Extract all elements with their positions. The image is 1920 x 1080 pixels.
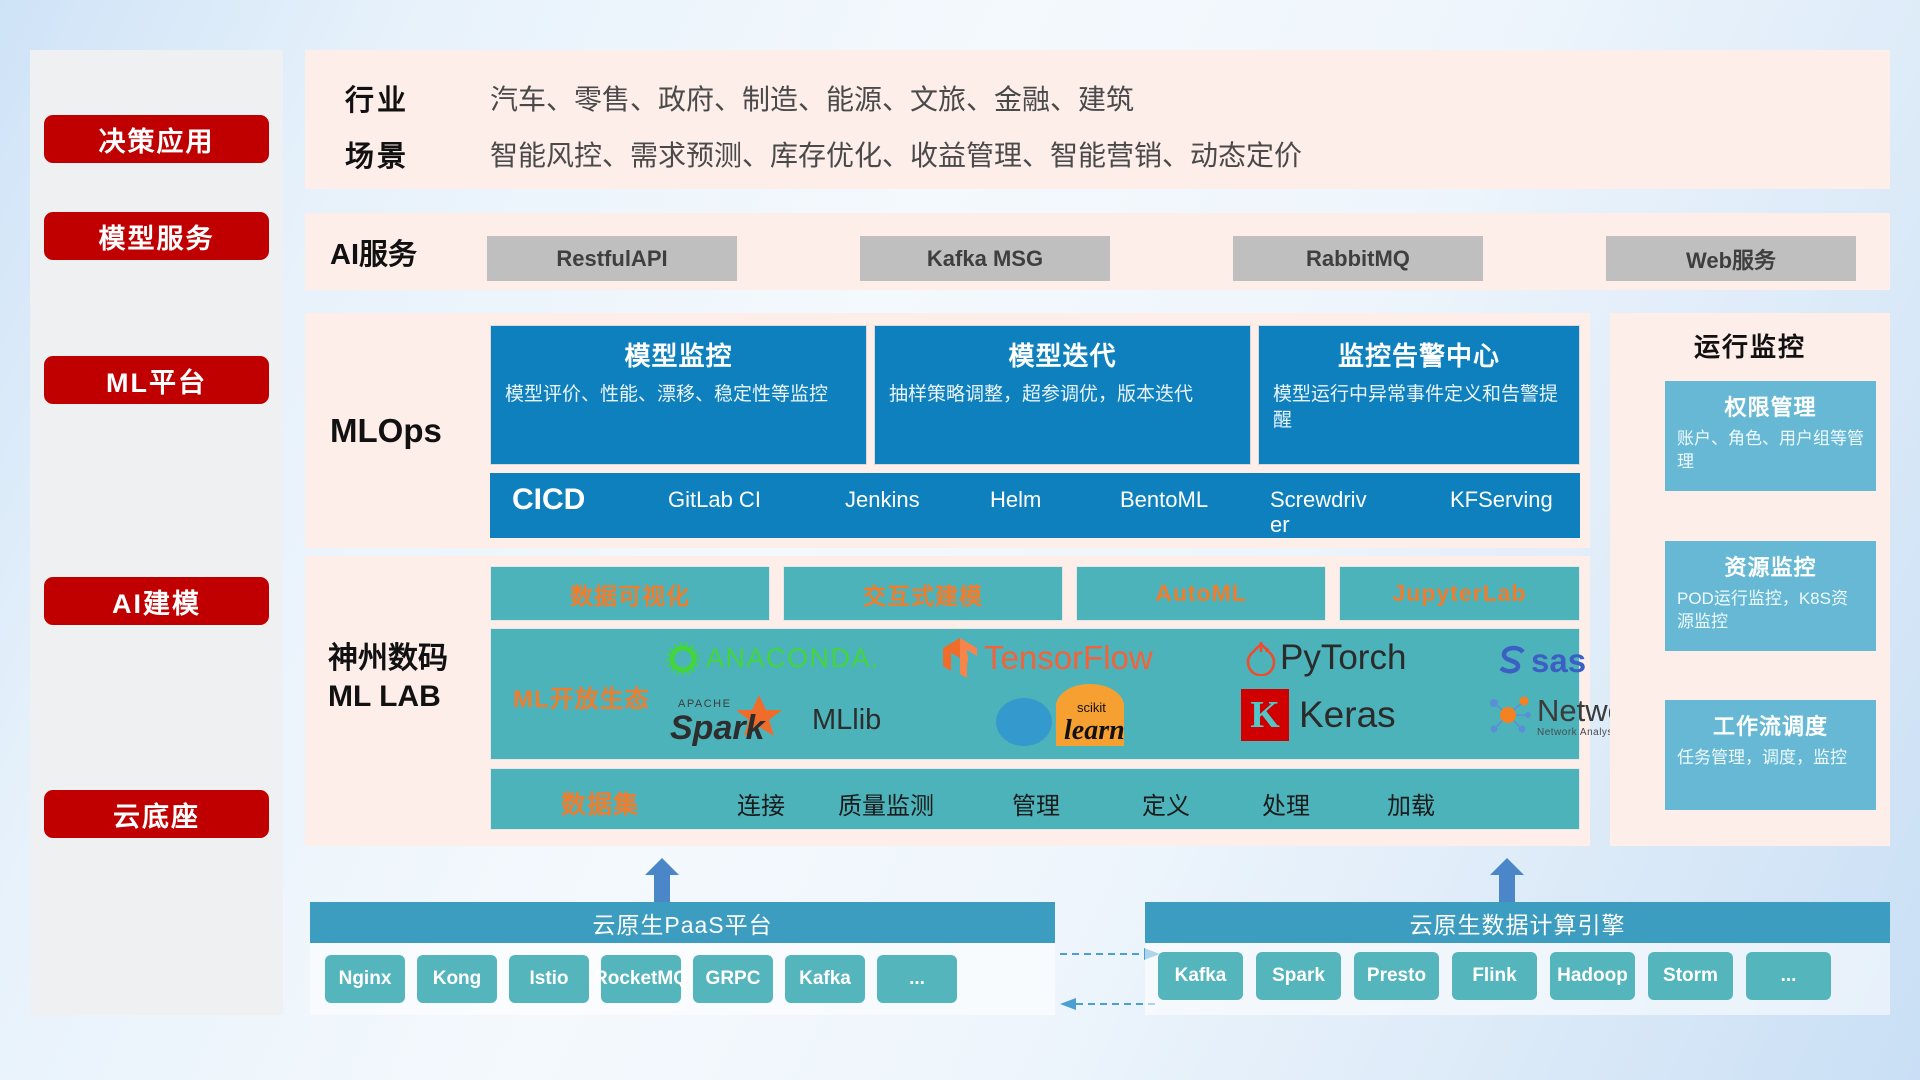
lab-tool-automl[interactable]: AutoML [1076, 566, 1326, 621]
left-rail: 决策应用 模型服务 ML平台 AI建模 云底座 [30, 50, 283, 1015]
card-title: 资源监控 [1677, 550, 1864, 582]
service-chip-web-service[interactable]: Web服务 [1606, 236, 1856, 281]
rail-item-cloud-base[interactable]: 云底座 [44, 790, 269, 838]
engine-chip-storm[interactable]: Storm [1648, 952, 1733, 1000]
engine-chip-more[interactable]: ... [1746, 952, 1831, 1000]
engine-chip-spark[interactable]: Spark [1256, 952, 1341, 1000]
dataset-item-quality[interactable]: 质量监测 [831, 786, 941, 821]
ai-service-label: AI服务 [330, 213, 417, 290]
ml-open-ecosystem-box: ML开放生态 ANACONDA. TensorFlow [490, 628, 1580, 760]
svg-text:Spark: Spark [670, 709, 767, 747]
monitor-card-resource[interactable]: 资源监控 POD运行监控，K8S资源监控 [1665, 541, 1876, 651]
paas-chip-nginx[interactable]: Nginx [325, 955, 405, 1003]
rail-item-label: 决策应用 [99, 120, 215, 159]
paas-chip-rocketmq[interactable]: RocketMQ [601, 955, 681, 1003]
rail-item-label: 模型服务 [99, 217, 215, 256]
dataset-item-manage[interactable]: 管理 [981, 786, 1091, 821]
card-desc: 模型运行中异常事件定义和告警提醒 [1273, 382, 1565, 433]
svg-text:scikit: scikit [1077, 700, 1106, 715]
ml-lab-label: 神州数码 ML LAB [328, 640, 448, 715]
scikit-learn-mark-icon: scikit learn [986, 684, 1176, 754]
card-desc: 任务管理，调度，监控 [1677, 747, 1864, 770]
mlops-label: MLOps [330, 313, 442, 548]
card-title: 工作流调度 [1677, 709, 1864, 741]
industry-value: 汽车、零售、政府、制造、能源、文旅、金融、建筑 [490, 78, 1134, 118]
paas-chip-istio[interactable]: Istio [509, 955, 589, 1003]
svg-text:learn: learn [1064, 715, 1125, 746]
pytorch-logo: PyTorch [1246, 638, 1406, 678]
card-desc: 抽样策略调整，超参调优，版本迭代 [889, 382, 1236, 408]
dataset-item-define[interactable]: 定义 [1111, 786, 1221, 821]
eco-title: ML开放生态 [513, 679, 650, 714]
keras-logo: K Keras [1241, 689, 1396, 741]
lab-tool-label: 交互式建模 [863, 577, 983, 611]
sas-logo: sas [1496, 642, 1586, 680]
lab-tool-label: 数据可视化 [570, 577, 690, 611]
rail-item-decision-app[interactable]: 决策应用 [44, 115, 269, 163]
engine-chip-kafka[interactable]: Kafka [1158, 952, 1243, 1000]
keras-mark-icon: K [1241, 689, 1289, 741]
service-chip-restfulapi[interactable]: RestfulAPI [487, 236, 737, 281]
card-title: 模型迭代 [889, 336, 1236, 373]
dataset-item-load[interactable]: 加载 [1356, 786, 1466, 821]
anaconda-logo: ANACONDA. [666, 641, 880, 675]
tensorflow-wordmark: TensorFlow [984, 639, 1153, 677]
dataset-item-connect[interactable]: 连接 [706, 786, 816, 821]
service-chip-label: Web服务 [1686, 243, 1776, 275]
scikit-learn-logo: scikit learn [986, 684, 1176, 754]
monitor-card-workflow[interactable]: 工作流调度 任务管理，调度，监控 [1665, 700, 1876, 810]
scenario-key: 场景 [345, 133, 409, 175]
architecture-diagram: 决策应用 模型服务 ML平台 AI建模 云底座 行业 汽车、零售、政府、制造、能… [0, 0, 1920, 1080]
engine-chip-hadoop[interactable]: Hadoop [1550, 952, 1635, 1000]
compute-engine-group-title: 云原生数据计算引擎 [1145, 902, 1890, 943]
sas-wordmark: sas [1531, 642, 1586, 680]
cicd-title: CICD [512, 483, 585, 517]
cicd-item-screwdriver[interactable]: Screwdriver [1270, 487, 1375, 538]
mlops-card-alert-center[interactable]: 监控告警中心 模型运行中异常事件定义和告警提醒 [1258, 325, 1580, 465]
pytorch-mark-icon [1246, 640, 1276, 676]
ml-lab-label-line2: ML LAB [328, 678, 448, 716]
service-chip-kafka-msg[interactable]: Kafka MSG [860, 236, 1110, 281]
cicd-item-helm[interactable]: Helm [990, 487, 1095, 512]
scenario-value: 智能风控、需求预测、库存优化、收益管理、智能营销、动态定价 [490, 134, 1302, 174]
cicd-item-gitlab-ci[interactable]: GitLab CI [668, 487, 773, 512]
paas-group-title: 云原生PaaS平台 [310, 902, 1055, 943]
networkx-mark-icon [1486, 693, 1532, 739]
rail-item-ai-modeling[interactable]: AI建模 [44, 577, 269, 625]
rail-item-label: ML平台 [106, 361, 207, 400]
engine-chip-flink[interactable]: Flink [1452, 952, 1537, 1000]
lab-tool-jupyterlab[interactable]: JupyterLab [1339, 566, 1580, 621]
up-arrow-paas-icon [645, 858, 679, 902]
anaconda-wordmark: ANACONDA. [706, 643, 880, 674]
cicd-item-jenkins[interactable]: Jenkins [845, 487, 950, 512]
pytorch-wordmark: PyTorch [1280, 638, 1406, 678]
mlops-card-model-monitoring[interactable]: 模型监控 模型评价、性能、漂移、稳定性等监控 [490, 325, 867, 465]
spark-mllib-logo: APACHE Spark MLlib [656, 691, 881, 749]
tensorflow-mark-icon [941, 637, 981, 679]
mllib-wordmark: MLlib [812, 704, 881, 737]
industry-key: 行业 [345, 77, 409, 119]
rail-item-model-service[interactable]: 模型服务 [44, 212, 269, 260]
card-title: 监控告警中心 [1273, 336, 1565, 373]
dataset-title: 数据集 [561, 785, 639, 821]
service-chip-rabbitmq[interactable]: RabbitMQ [1233, 236, 1483, 281]
rail-item-label: 云底座 [113, 795, 200, 834]
service-chip-label: RestfulAPI [556, 246, 667, 272]
service-chip-label: Kafka MSG [927, 246, 1043, 272]
cicd-item-kfserving[interactable]: KFServing [1450, 487, 1555, 512]
dataset-item-process[interactable]: 处理 [1231, 786, 1341, 821]
dataset-bar: 数据集 连接 质量监测 管理 定义 处理 加载 [490, 768, 1580, 830]
runtime-monitoring-title: 运行监控 [1610, 320, 1890, 370]
anaconda-mark-icon [666, 641, 700, 675]
lab-tool-label: JupyterLab [1393, 580, 1527, 607]
paas-chip-grpc[interactable]: GRPC [693, 955, 773, 1003]
engine-chip-presto[interactable]: Presto [1354, 952, 1439, 1000]
rail-item-label: AI建模 [112, 582, 201, 621]
decision-app-band: 行业 汽车、零售、政府、制造、能源、文旅、金融、建筑 场景 智能风控、需求预测、… [305, 50, 1890, 189]
monitor-card-permission[interactable]: 权限管理 账户、角色、用户组等管理 [1665, 381, 1876, 491]
card-desc: POD运行监控，K8S资源监控 [1677, 588, 1864, 634]
mlops-card-model-iteration[interactable]: 模型迭代 抽样策略调整，超参调优，版本迭代 [874, 325, 1251, 465]
card-title: 权限管理 [1677, 390, 1864, 422]
rail-item-ml-platform[interactable]: ML平台 [44, 356, 269, 404]
spark-mark-icon: APACHE Spark [656, 691, 806, 749]
cicd-bar: CICD GitLab CI Jenkins Helm BentoML Scre… [490, 473, 1580, 538]
service-chip-label: RabbitMQ [1306, 246, 1410, 272]
keras-k-glyph: K [1250, 693, 1280, 737]
tensorflow-logo: TensorFlow [941, 637, 1153, 679]
card-title: 模型监控 [505, 336, 852, 373]
keras-wordmark: Keras [1299, 694, 1396, 736]
paas-chip-more[interactable]: ... [877, 955, 957, 1003]
cicd-item-bentoml[interactable]: BentoML [1120, 487, 1225, 512]
paas-chip-kong[interactable]: Kong [417, 955, 497, 1003]
sas-mark-icon [1496, 645, 1530, 677]
card-desc: 模型评价、性能、漂移、稳定性等监控 [505, 382, 852, 408]
lab-tool-interactive-modeling[interactable]: 交互式建模 [783, 566, 1063, 621]
lab-tool-data-visualization[interactable]: 数据可视化 [490, 566, 770, 621]
ml-lab-label-line1: 神州数码 [328, 640, 448, 678]
lab-tool-label: AutoML [1155, 580, 1247, 607]
paas-chip-kafka[interactable]: Kafka [785, 955, 865, 1003]
up-arrow-engine-icon [1490, 858, 1524, 902]
card-desc: 账户、角色、用户组等管理 [1677, 428, 1864, 474]
